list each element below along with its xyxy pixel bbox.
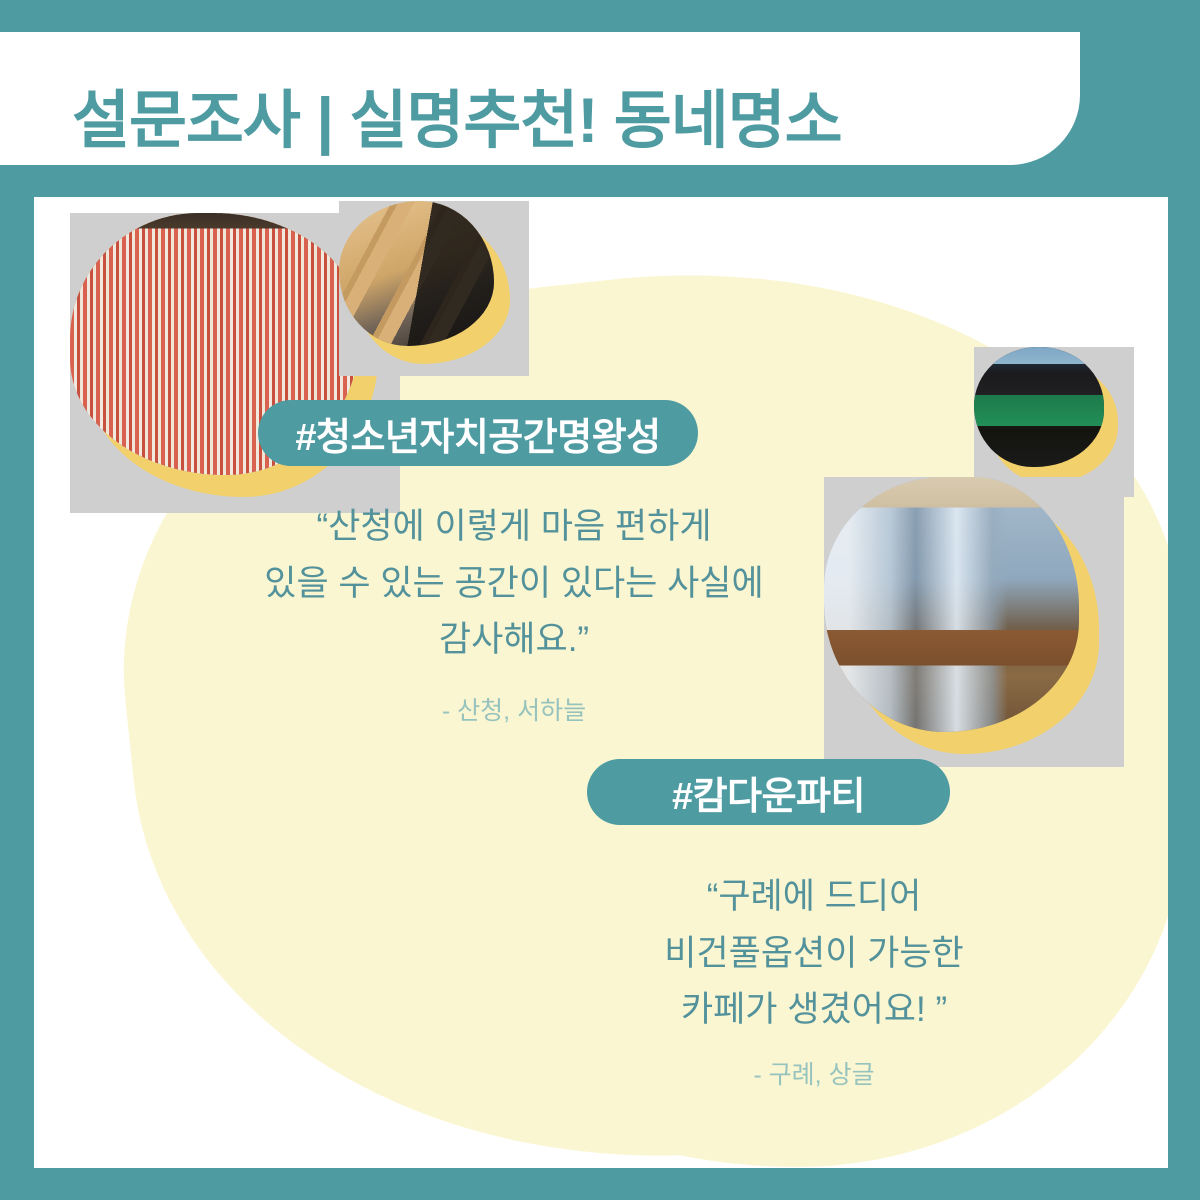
quote-line: “구례에 드디어 (604, 869, 1024, 926)
quote-line: “산청에 이렇게 마음 편하게 (184, 499, 844, 556)
quote-attribution: - 산청, 서하늘 (184, 691, 844, 727)
loft-ladder-photo (339, 201, 529, 376)
sofa-boardgame-photo (974, 347, 1134, 497)
quote-attribution: - 구례, 상글 (604, 1055, 1024, 1091)
cafe-interior-photo (824, 477, 1124, 767)
photo-image-ladder (339, 201, 494, 346)
photo-frame (974, 347, 1104, 467)
quote-line: 감사해요.” (184, 612, 844, 669)
header-band: 설문조사 | 실명추천! 동네명소 (0, 32, 1080, 165)
promo-card: 설문조사 | 실명추천! 동네명소 (0, 0, 1200, 1200)
quote-block-1: “산청에 이렇게 마음 편하게 있을 수 있는 공간이 있다는 사실에 감사해요… (184, 499, 844, 727)
main-panel: #청소년자치공간명왕성 “산청에 이렇게 마음 편하게 있을 수 있는 공간이 … (34, 197, 1168, 1168)
hashtag-badge-2[interactable]: #캄다운파티 (587, 759, 950, 825)
quote-line: 카페가 생겼어요! ” (604, 982, 1024, 1039)
quote-line: 비건풀옵션이 가능한 (604, 926, 1024, 983)
quote-line: 있을 수 있는 공간이 있다는 사실에 (184, 556, 844, 613)
hashtag-badge-1[interactable]: #청소년자치공간명왕성 (258, 400, 698, 466)
photo-frame (824, 477, 1079, 732)
photo-image-cafe (824, 477, 1079, 732)
page-title: 설문조사 | 실명추천! 동네명소 (72, 90, 842, 153)
quote-block-2: “구례에 드디어 비건풀옵션이 가능한 카페가 생겼어요! ” - 구례, 상글 (604, 869, 1024, 1091)
photo-image-sofa (974, 347, 1104, 467)
photo-frame (339, 201, 494, 346)
